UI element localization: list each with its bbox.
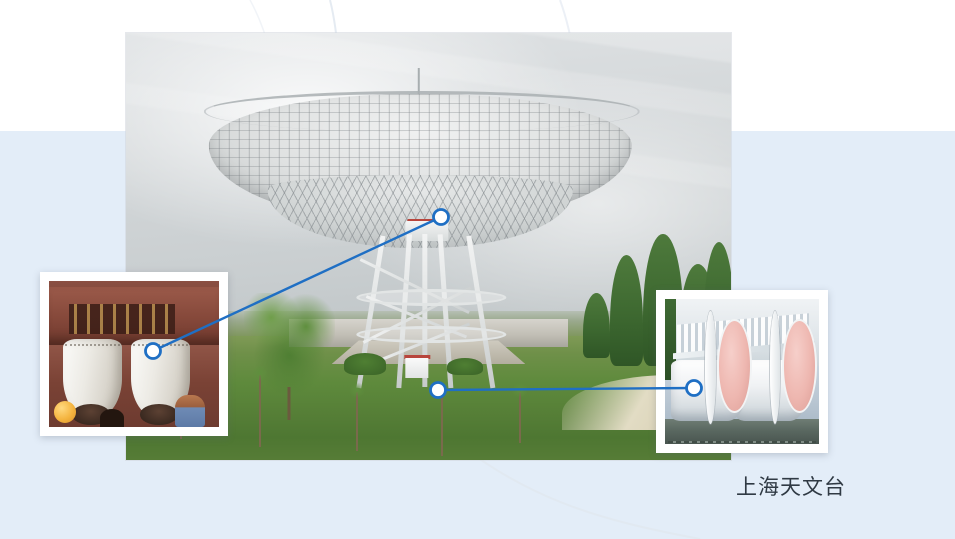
inset-left-slot-detail <box>69 304 174 333</box>
photo-sapling <box>259 375 261 448</box>
inset-right-pink-endcap <box>717 319 752 413</box>
photo-tree-trunk <box>288 387 291 420</box>
photo-tree-willow <box>244 293 335 404</box>
inset-right-flange <box>705 311 716 424</box>
photo-shrub <box>344 353 386 374</box>
photo-shrub <box>447 358 483 375</box>
photo-dish-rim <box>204 91 640 132</box>
inset-right-base <box>665 419 819 444</box>
photo-hut <box>406 358 429 378</box>
photo-caption: 上海天文台 <box>736 471 846 501</box>
photo-tower-ring <box>357 289 507 306</box>
inset-left-orange-sphere <box>54 401 76 423</box>
photo-sapling <box>519 392 521 443</box>
photo-sapling <box>441 392 443 456</box>
inset-left-card[interactable] <box>40 272 228 436</box>
inset-left-shadow <box>100 409 124 427</box>
inset-right-pink-endcap <box>782 319 817 413</box>
photo-sapling <box>356 392 358 452</box>
inset-left-cylinder-mouth <box>140 404 178 424</box>
slide-canvas: 上海天文台 <box>0 0 955 539</box>
inset-right-bolt-row <box>668 441 816 443</box>
bearing-assembly-rusty-photo <box>49 281 219 427</box>
inset-left-person <box>175 395 206 427</box>
drive-motor-assembly-photo <box>665 299 819 444</box>
photo-tower-ring <box>357 326 507 343</box>
inset-right-card[interactable] <box>656 290 828 453</box>
